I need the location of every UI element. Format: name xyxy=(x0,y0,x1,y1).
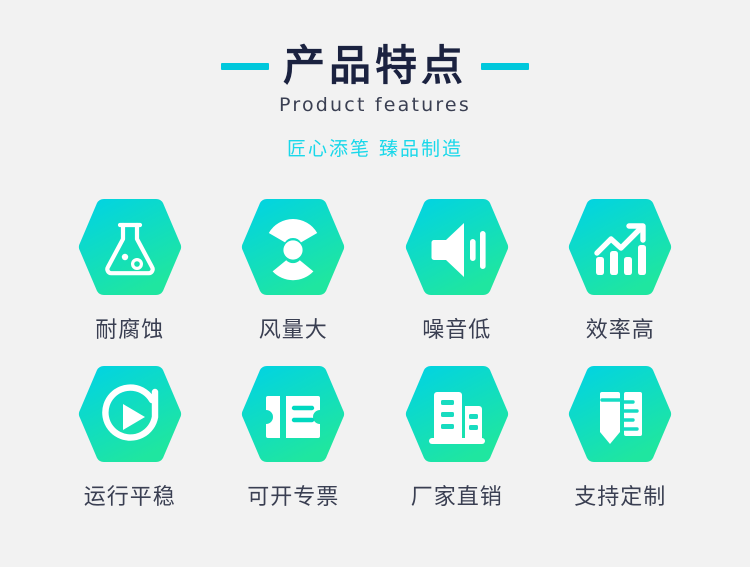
title-rule-right-icon xyxy=(481,63,529,70)
feature-label: 可开专票 xyxy=(247,479,339,511)
page-title: 产品特点 xyxy=(283,44,467,88)
feature-label: 噪音低 xyxy=(422,312,491,344)
feature-item-corrosion-resistant: 耐腐蚀 xyxy=(48,195,212,344)
factory-building-icon xyxy=(402,362,512,466)
flask-icon xyxy=(75,195,185,299)
feature-label: 厂家直销 xyxy=(411,479,503,511)
title-row: 产品特点 xyxy=(0,44,750,88)
product-features-page: 产品特点 Product features 匠心添笔 臻品制造 xyxy=(0,0,750,567)
pencil-ruler-icon xyxy=(565,362,675,466)
feature-item-large-airflow: 风量大 xyxy=(212,195,376,344)
play-circle-icon xyxy=(75,362,185,466)
feature-label: 效率高 xyxy=(586,312,655,344)
page-header: 产品特点 Product features 匠心添笔 臻品制造 xyxy=(0,0,750,161)
feature-item-smooth-operation: 运行平稳 xyxy=(48,362,212,511)
feature-grid: 耐腐蚀 xyxy=(0,195,750,511)
feature-label: 运行平稳 xyxy=(84,479,176,511)
bar-chart-arrow-icon xyxy=(565,195,675,299)
ticket-invoice-icon xyxy=(238,362,348,466)
title-rule-left-icon xyxy=(221,63,269,70)
feature-label: 支持定制 xyxy=(574,479,666,511)
feature-item-special-invoice: 可开专票 xyxy=(212,362,376,511)
feature-item-customization: 支持定制 xyxy=(539,362,703,511)
feature-item-factory-direct: 厂家直销 xyxy=(375,362,539,511)
feature-label: 风量大 xyxy=(259,312,328,344)
feature-label: 耐腐蚀 xyxy=(95,312,164,344)
speaker-volume-icon xyxy=(402,195,512,299)
radiation-fan-icon xyxy=(238,195,348,299)
feature-item-high-efficiency: 效率高 xyxy=(539,195,703,344)
page-subtitle-english: Product features xyxy=(0,94,750,116)
page-tagline: 匠心添笔 臻品制造 xyxy=(0,134,750,161)
feature-item-low-noise: 噪音低 xyxy=(375,195,539,344)
